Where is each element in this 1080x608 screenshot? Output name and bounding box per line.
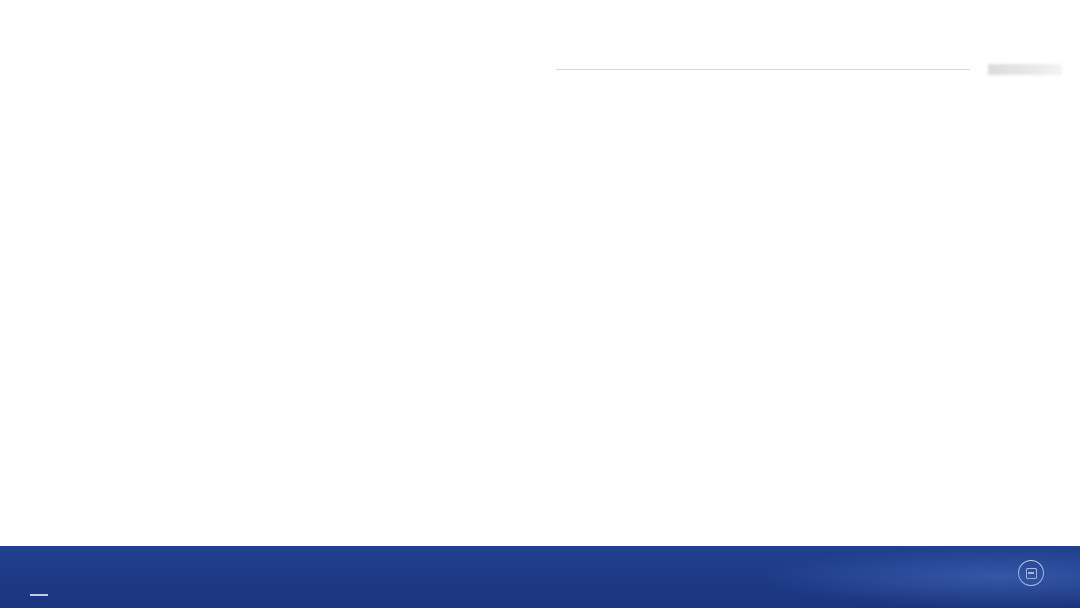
watermark-row bbox=[556, 58, 1062, 80]
charts-pane bbox=[556, 58, 1062, 538]
footer-bar bbox=[0, 546, 1080, 608]
footer-divider bbox=[30, 594, 48, 596]
footer-logo bbox=[1018, 560, 1054, 586]
watermark-rule bbox=[556, 69, 970, 70]
slide-root bbox=[0, 0, 1080, 608]
company-logo-icon bbox=[1018, 560, 1044, 586]
bullet-list bbox=[34, 100, 539, 160]
watermark-logo-blur bbox=[988, 64, 1062, 75]
